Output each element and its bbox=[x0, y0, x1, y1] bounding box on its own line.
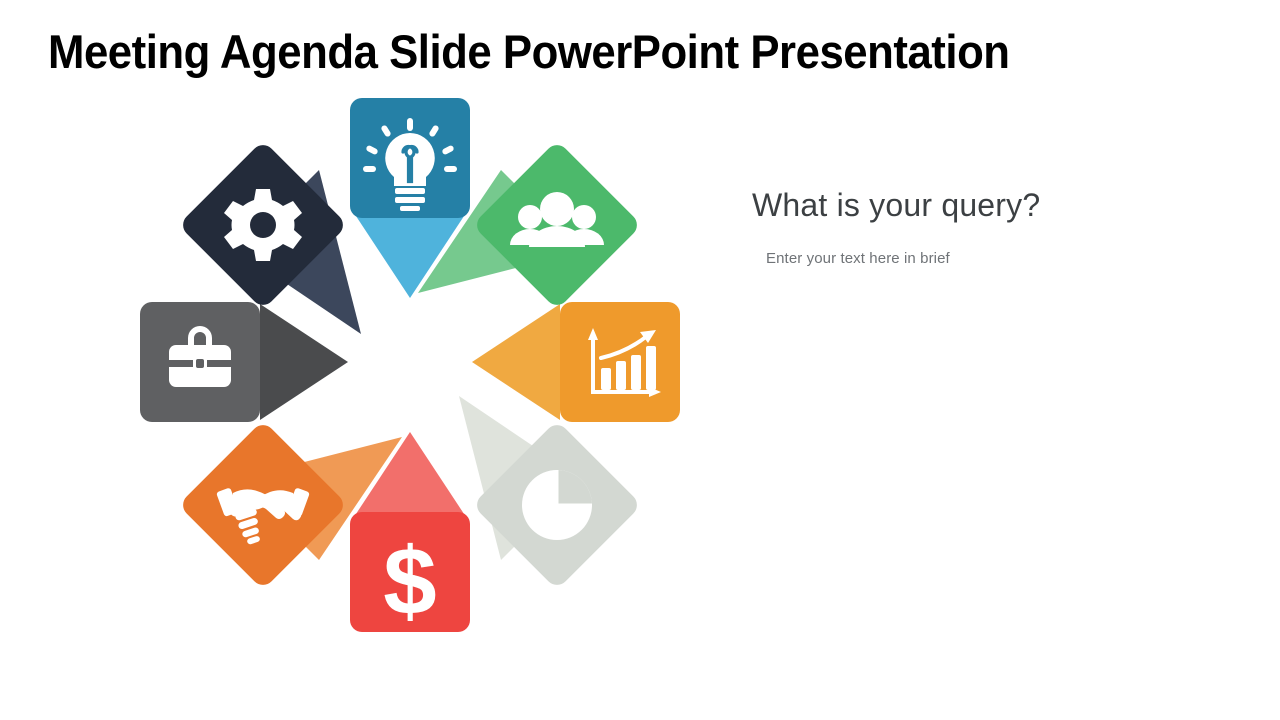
pie-chart-icon bbox=[522, 470, 592, 540]
query-heading: What is your query? bbox=[752, 186, 1222, 224]
query-subtext: Enter your text here in brief bbox=[766, 250, 1222, 267]
svg-text:$: $ bbox=[383, 528, 436, 635]
segment-people[interactable] bbox=[472, 140, 642, 310]
dollar-sign-icon: $ bbox=[383, 528, 436, 635]
tail-bar-chart bbox=[472, 304, 560, 420]
agenda-wheel-diagram: $ bbox=[120, 70, 700, 660]
tail-briefcase bbox=[260, 304, 348, 420]
segment-bar-chart[interactable] bbox=[560, 302, 680, 422]
segment-lightbulb[interactable] bbox=[350, 98, 470, 218]
page-title: Meeting Agenda Slide PowerPoint Presenta… bbox=[48, 28, 1164, 75]
segment-dollar[interactable]: $ bbox=[350, 512, 470, 635]
segment-handshake[interactable] bbox=[178, 420, 348, 590]
segment-briefcase[interactable] bbox=[140, 302, 260, 422]
query-text-block: What is your query? Enter your text here… bbox=[752, 186, 1222, 267]
presentation-slide: Meeting Agenda Slide PowerPoint Presenta… bbox=[0, 0, 1280, 720]
